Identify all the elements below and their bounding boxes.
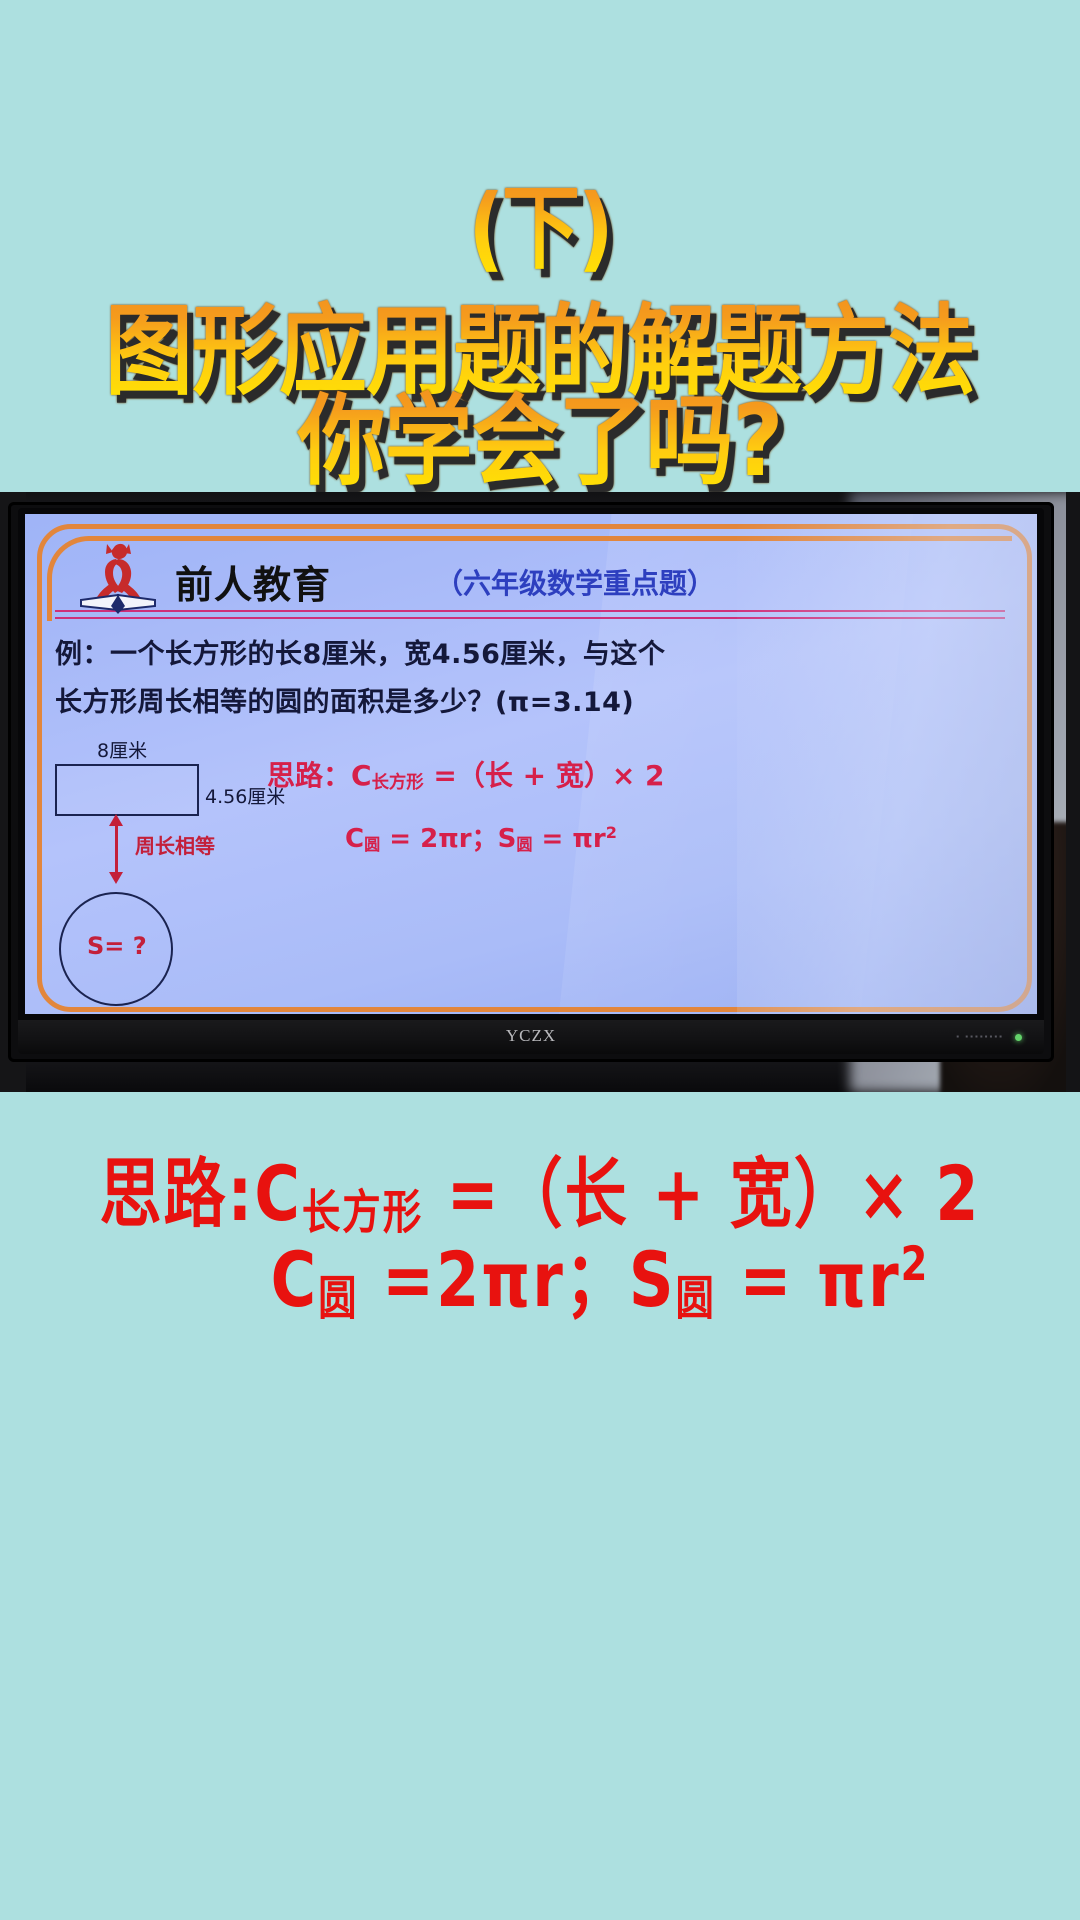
caption2-s-sub: 圆 [675,1272,715,1327]
smart-board: 前人教育 （六年级数学重点题） 例：一个长方形的长8厘米，宽4.56厘米，与这个… [8,502,1054,1062]
arrow-down-head-icon [109,872,123,884]
arrow-shaft [115,819,118,877]
title-block: (下) 图形应用题的解题方法 你学会了吗? [0,0,1080,500]
wall-right [1066,492,1080,1092]
slide-formula-c: C [351,759,372,792]
slide-formula2-c-sub: 圆 [364,835,380,854]
rectangle-shape [55,764,199,816]
slide-formula2-sep: ； [472,824,498,854]
power-led-icon [1015,1034,1022,1041]
caption2-s-rest: = πr [716,1235,901,1324]
slide-formula2-c: C [345,824,364,854]
rect-length-label: 8厘米 [97,736,147,763]
title-part-label: (下) [0,155,1080,287]
question-line-1: 例：一个长方形的长8厘米，宽4.56厘米，与这个 [55,632,665,671]
screenshot-root: (下) 图形应用题的解题方法 你学会了吗? [0,0,1080,1920]
slide-brand-name: 前人教育 [175,554,331,609]
caption2-c-rest: =2πr； [359,1235,629,1324]
girl-reading-book-logo [77,540,163,614]
caption2-s-sup: 2 [901,1237,930,1292]
caption-line-2: C圆 =2πr；S圆 = πr2 [0,1218,1080,1329]
question-line-2: 长方形周长相等的圆的面积是多少？(π=3.14) [55,680,634,719]
slide-formula-prefix: 思路： [267,759,351,792]
slide-formula-line-2: C圆 = 2πr；S圆 = πr2 [345,818,617,855]
slide-formula2-s-sup: 2 [606,823,617,842]
slide-formula-rest: =（长 + 宽）× 2 [424,759,665,792]
circle-area-label: S= ? [87,932,147,960]
lesson-slide: 前人教育 （六年级数学重点题） 例：一个长方形的长8厘米，宽4.56厘米，与这个… [25,514,1037,1014]
caption-block: 思路:C长方形 =（长 + 宽）× 2 C圆 =2πr；S圆 = πr2 [0,1092,1080,1920]
slide-formula-c-sub: 长方形 [372,773,424,793]
title-line-2: 你学会了吗? [0,362,1080,504]
monitor-bottom-bar: YCZX ▪ ▪▪▪▪▪▪▪▪ [18,1020,1044,1054]
monitor-bezel: 前人教育 （六年级数学重点题） 例：一个长方形的长8厘米，宽4.56厘米，与这个… [18,508,1044,1026]
slide-formula2-s-sub: 圆 [516,835,532,854]
classroom-photo: 前人教育 （六年级数学重点题） 例：一个长方形的长8厘米，宽4.56厘米，与这个… [0,492,1080,1092]
slide-header-rule [55,610,1005,619]
equal-perimeter-label: 周长相等 [135,830,215,859]
slide-grade-note: （六年级数学重点题） [435,562,715,602]
caption2-c: C [151,1235,319,1324]
monitor-screen[interactable]: 前人教育 （六年级数学重点题） 例：一个长方形的长8厘米，宽4.56厘米，与这个… [25,514,1037,1014]
caption2-c-sub: 圆 [318,1272,358,1327]
caption2-s: S [629,1235,676,1324]
slide-formula2-s-rest: = πr [532,824,605,854]
slide-formula-line-1: 思路：C长方形 =（长 + 宽）× 2 [267,754,665,794]
slide-formula2-c-rest: = 2πr [380,824,471,854]
monitor-brand-label: YCZX [18,1026,1044,1046]
monitor-led-marks: ▪ ▪▪▪▪▪▪▪▪ [956,1032,1004,1041]
slide-formula2-s: S [498,824,517,854]
